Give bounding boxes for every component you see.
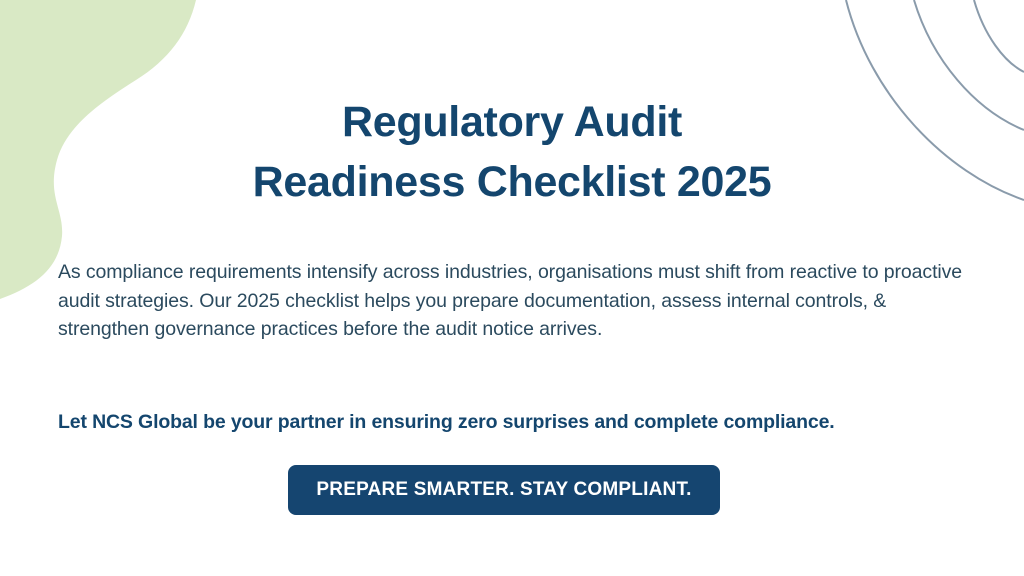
body-block: As compliance requirements intensify acr… bbox=[58, 258, 978, 344]
title-line-2: Readiness Checklist 2025 bbox=[0, 152, 1024, 212]
slide-canvas: Regulatory Audit Readiness Checklist 202… bbox=[0, 0, 1024, 576]
body-paragraph: As compliance requirements intensify acr… bbox=[58, 258, 978, 344]
page-title: Regulatory Audit Readiness Checklist 202… bbox=[0, 92, 1024, 212]
slide-content: Regulatory Audit Readiness Checklist 202… bbox=[0, 0, 1024, 576]
prepare-smarter-cta-button[interactable]: PREPARE SMARTER. STAY COMPLIANT. bbox=[288, 465, 720, 515]
title-line-1: Regulatory Audit bbox=[0, 92, 1024, 152]
tagline-text: Let NCS Global be your partner in ensuri… bbox=[58, 409, 988, 435]
